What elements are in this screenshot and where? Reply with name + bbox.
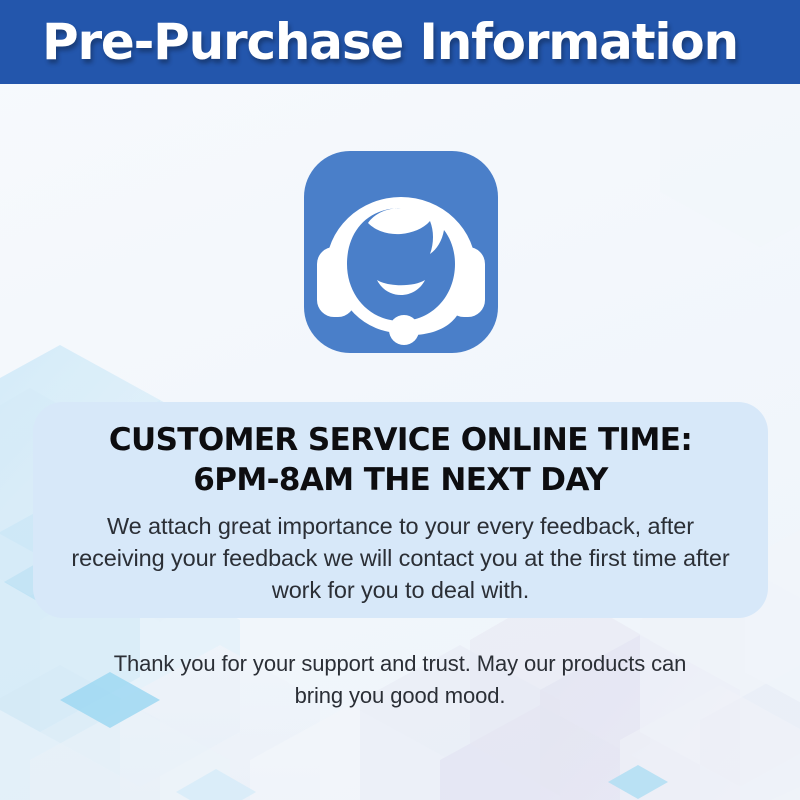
feedback-message: We attach great importance to your every… [69, 510, 732, 606]
service-hours-panel: CUSTOMER SERVICE ONLINE TIME: 6PM-8AM TH… [33, 402, 768, 618]
page-title: Pre-Purchase Information [0, 0, 738, 84]
service-hours-heading-line-1: CUSTOMER SERVICE ONLINE TIME: [33, 420, 768, 460]
header-banner: Pre-Purchase Information [0, 0, 800, 84]
customer-service-headset-icon [304, 151, 498, 353]
service-hours-heading-line-2: 6PM-8AM THE NEXT DAY [33, 460, 768, 500]
pre-purchase-information-card: Pre-Purchase Information [0, 0, 800, 800]
service-hours-heading: CUSTOMER SERVICE ONLINE TIME: 6PM-8AM TH… [33, 420, 768, 500]
thank-you-note: Thank you for your support and trust. Ma… [100, 648, 700, 712]
